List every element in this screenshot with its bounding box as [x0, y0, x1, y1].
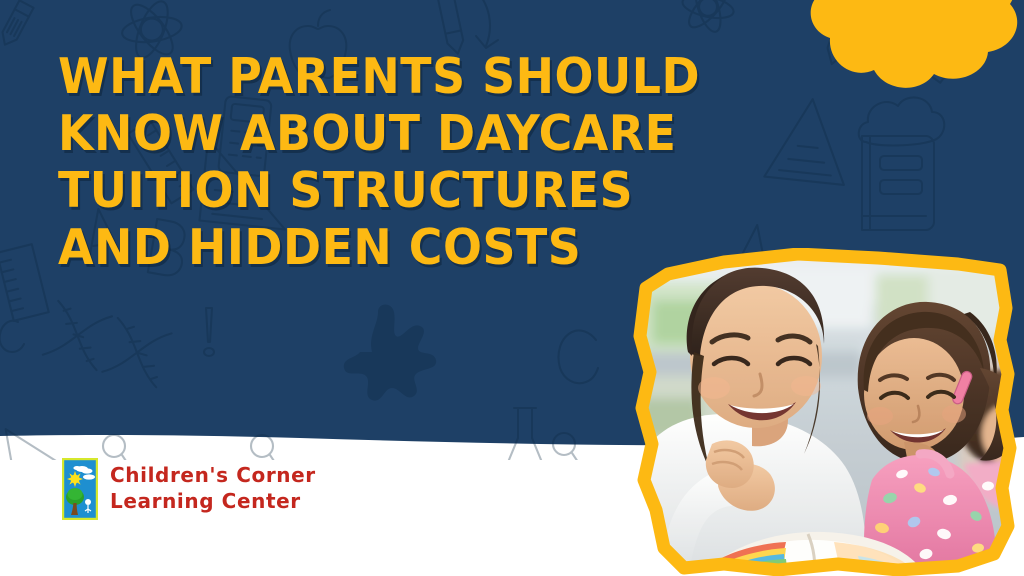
headline-line-2: KNOW ABOUT DAYCARE: [58, 105, 807, 162]
logo-line-2: Learning Center: [110, 489, 316, 515]
logo-text: Children's Corner Learning Center: [110, 463, 316, 514]
headline-line-1: WHAT PARENTS SHOULD: [58, 48, 807, 105]
logo-line-1: Children's Corner: [110, 463, 316, 489]
headline-line-4: AND HIDDEN COSTS: [58, 219, 807, 276]
logo[interactable]: Children's Corner Learning Center: [62, 458, 316, 520]
sun-tree-logo-icon: [62, 458, 98, 520]
headline: WHAT PARENTS SHOULD KNOW ABOUT DAYCARE T…: [58, 48, 778, 276]
headline-line-3: TUITION STRUCTURES: [58, 162, 807, 219]
promotional-banner: WHAT PARENTS SHOULD KNOW ABOUT DAYCARE T…: [0, 0, 1024, 576]
reading-photo: [628, 248, 1024, 576]
photo-card: [628, 248, 1024, 576]
